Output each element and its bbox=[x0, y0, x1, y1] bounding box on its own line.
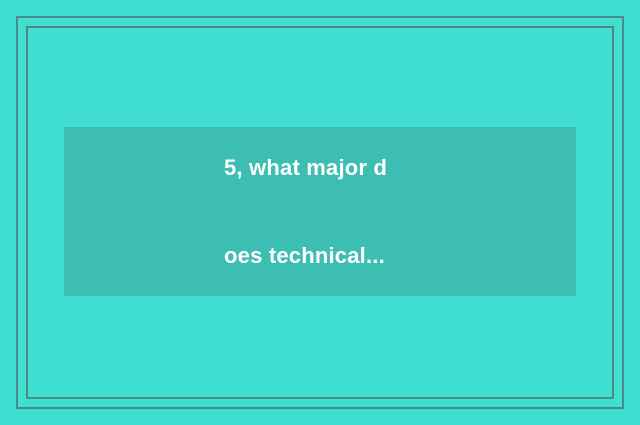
question-text-line-1: 5, what major d bbox=[224, 146, 387, 190]
question-panel: 5, what major d oes technical... bbox=[64, 127, 576, 296]
question-text-line-2: oes technical... bbox=[224, 234, 387, 278]
question-text-block: 5, what major d oes technical... bbox=[224, 102, 387, 322]
question-card-canvas: 5, what major d oes technical... bbox=[0, 0, 640, 425]
